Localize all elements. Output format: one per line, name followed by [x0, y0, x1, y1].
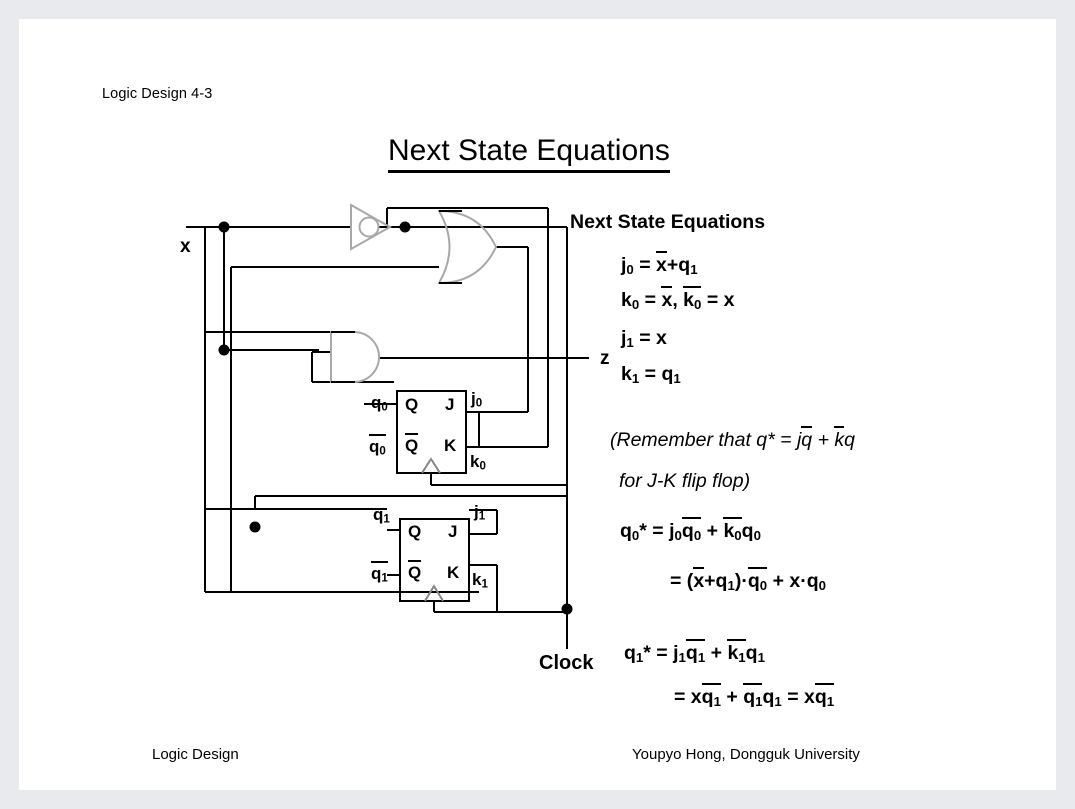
junction-xbar [400, 222, 411, 233]
equations-heading: Next State Equations [570, 213, 765, 233]
ff1-clock-triangle [425, 586, 443, 601]
ff1-in-k-label: k1 [472, 571, 488, 591]
slide-canvas: Logic Design 4-3 Next State Equations [19, 19, 1056, 790]
ff0-pin-j: J [445, 396, 454, 413]
ff0-in-k-label: k0 [470, 453, 486, 473]
equation-q1-star-expanded: = xq1 + q1q1 = xq1 [674, 688, 834, 708]
circuit-input-label-x: x [180, 237, 191, 256]
ff1-pin-j: J [448, 523, 457, 540]
ff1-in-j-label: j1 [474, 503, 485, 523]
equation-j0: j0 = x+q1 [621, 256, 698, 276]
ff1-out-q-label: q1 [373, 506, 390, 526]
ff0-pin-q: Q [405, 396, 418, 413]
equation-k0: k0 = x, k0 = x [621, 291, 734, 311]
ff1-pin-k: K [447, 564, 459, 581]
and-gate-body [331, 332, 379, 382]
ff0-pin-k: K [444, 437, 456, 454]
equation-q1-star: q1* = j1q1 + k1q1 [624, 644, 765, 664]
circuit-diagram [19, 19, 1056, 790]
ff0-clock-triangle [422, 459, 440, 473]
junction-q1-fb [250, 522, 261, 533]
equation-j1: j1 = x [621, 329, 667, 349]
or-gate-body [439, 211, 496, 283]
note-line-2: for J-K flip flop) [619, 472, 750, 492]
note-line-1: (Remember that q* = jq + kq [610, 431, 855, 451]
ff1-pin-qbar: Q [408, 564, 421, 581]
equation-k1: k1 = q1 [621, 365, 681, 385]
circuit-clock-label: Clock [539, 653, 593, 673]
equation-q0-star: q0* = j0q0 + k0q0 [620, 522, 761, 542]
equation-q0-star-expanded: = (x+q1)·q0 + x·q0 [670, 572, 826, 592]
ff1-pin-q: Q [408, 523, 421, 540]
circuit-output-label-z: z [600, 349, 610, 368]
ff0-in-j-label: j0 [471, 390, 482, 410]
junction-dots [219, 222, 573, 615]
ff0-out-qbar-label: q0 [369, 438, 386, 458]
footer-right: Youpyo Hong, Dongguk University [632, 746, 860, 763]
ff0-out-q-label: q0 [371, 394, 388, 414]
not-gate-bubble [360, 218, 379, 237]
ff1-out-qbar-label: q1 [371, 565, 388, 585]
footer-left: Logic Design [152, 746, 239, 763]
ff0-pin-qbar: Q [405, 437, 418, 454]
junction-clock [562, 604, 573, 615]
